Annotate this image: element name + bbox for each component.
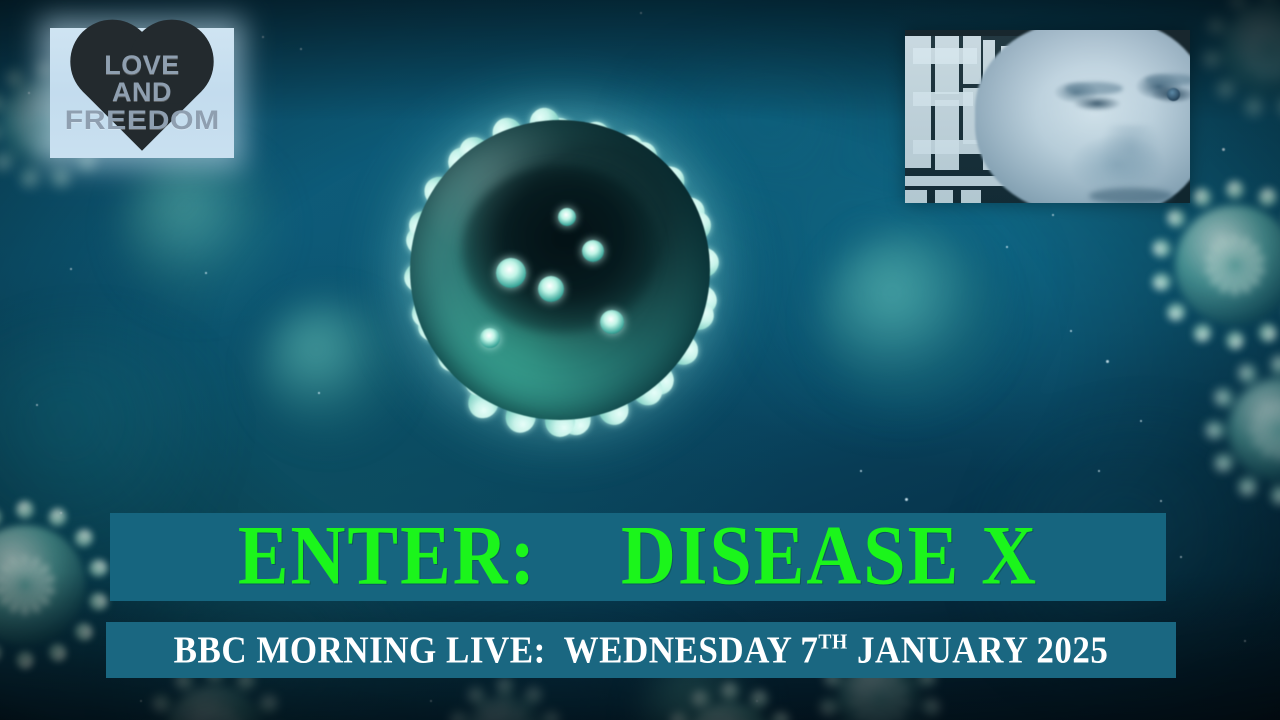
sparkle: [1222, 148, 1225, 151]
background-soft-dot: [120, 150, 280, 310]
virus-core: [462, 165, 658, 333]
sparkle: [1140, 420, 1142, 422]
sparkle: [756, 700, 758, 702]
sparkle: [1106, 360, 1109, 363]
subtitle-ordinal: TH: [818, 631, 847, 654]
virus-pore: [582, 240, 604, 262]
man-face-photo[interactable]: [905, 30, 1190, 203]
sparkle: [1098, 470, 1100, 472]
love-and-freedom-logo[interactable]: LOVE AND FREEDOM: [50, 28, 234, 158]
secondary-virus-particle: [1180, 330, 1280, 530]
sparkle: [1070, 330, 1072, 332]
subtitle: BBC MORNING LIVE: WEDNESDAY 7TH JANUARY …: [106, 633, 1176, 668]
title-banner: ENTER: DISEASE X: [110, 513, 1166, 601]
sparkle: [28, 92, 30, 94]
virus-pore: [538, 276, 564, 302]
logo-line-1: LOVE: [73, 52, 212, 80]
sparkle: [1052, 214, 1054, 216]
photo-blue-tint: [905, 30, 1190, 203]
page-title-text: ENTER: DISEASE X: [238, 513, 1038, 598]
subtitle-inner: BBC MORNING LIVE: WEDNESDAY 7TH JANUARY …: [174, 631, 1109, 670]
page-title: ENTER: DISEASE X: [110, 517, 1166, 593]
virus-pore: [600, 310, 624, 334]
virus-pore: [558, 208, 576, 226]
sparkle: [430, 700, 432, 702]
sparkle: [262, 36, 264, 38]
video-thumbnail: LOVE AND FREEDOM ENTER: DISEASE X BBC MO…: [0, 0, 1280, 720]
secondary-virus-particle: [1180, 0, 1280, 140]
sparkle: [70, 268, 72, 270]
sparkle: [36, 404, 38, 406]
sparkle: [860, 470, 862, 472]
sparkle: [1244, 640, 1246, 642]
sparkle: [60, 512, 62, 514]
virus-pore: [496, 258, 526, 288]
sparkle: [1180, 556, 1182, 558]
subtitle-banner: BBC MORNING LIVE: WEDNESDAY 7TH JANUARY …: [106, 622, 1176, 678]
virus-pore: [480, 328, 500, 348]
logo-line-2: AND: [73, 79, 212, 107]
logo-text: LOVE AND FREEDOM: [73, 52, 212, 135]
sparkle: [205, 272, 207, 274]
sparkle: [140, 700, 142, 702]
sparkle: [905, 498, 908, 501]
background-soft-dot: [820, 230, 1000, 410]
sparkle: [1160, 500, 1162, 502]
virus-particle-illustration: [300, 10, 820, 530]
logo-line-3: FREEDOM: [64, 107, 219, 135]
sparkle: [1006, 246, 1008, 248]
subtitle-suffix: JANUARY 2025: [848, 629, 1109, 672]
subtitle-prefix: BBC MORNING LIVE: WEDNESDAY 7: [174, 629, 819, 672]
